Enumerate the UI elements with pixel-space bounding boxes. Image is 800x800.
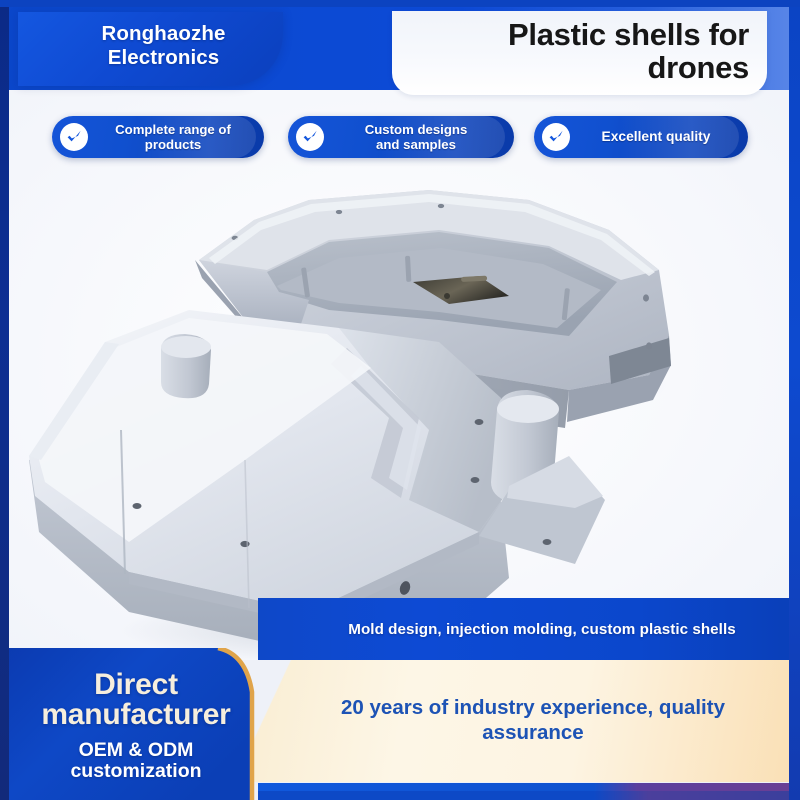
check-circle-icon <box>60 123 88 151</box>
page-title-line1: Plastic shells for <box>508 17 749 52</box>
feature-pill-label: Custom designs and samples <box>324 122 514 153</box>
footer-left-sub-line1: OEM & ODM <box>79 739 194 761</box>
feature-label-line1: Complete range of <box>115 122 231 137</box>
footer-left-headline-line1: Direct <box>94 668 178 701</box>
footer-left-headline: Direct manufacturer <box>41 670 230 731</box>
banner-image: Ronghaozhe Electronics Plastic shells fo… <box>0 0 800 800</box>
check-circle-icon <box>542 123 570 151</box>
product-photo <box>9 160 789 660</box>
border-top <box>0 0 800 7</box>
feature-label-line2: products <box>145 137 201 152</box>
page-title-line2: drones <box>647 50 749 85</box>
feature-pill-list: Complete range of products Custom design… <box>0 116 800 162</box>
footer-cream-text: 20 years of industry experience, quality… <box>240 696 800 745</box>
footer-left-sub-line2: customization <box>70 760 201 782</box>
check-circle-icon <box>296 123 324 151</box>
border-right <box>789 0 800 800</box>
brand-badge: Ronghaozhe Electronics <box>18 12 283 86</box>
feature-label-line1: Excellent quality <box>602 129 711 144</box>
footer-accent-strip-lower <box>258 791 800 800</box>
title-card: Plastic shells for drones <box>392 11 767 95</box>
feature-pill-label: Excellent quality <box>570 129 748 145</box>
brand-name-line2: Electronics <box>108 46 220 69</box>
feature-pill-custom-designs[interactable]: Custom designs and samples <box>288 116 514 158</box>
footer-blue-text: Mold design, injection molding, custom p… <box>322 621 735 638</box>
feature-pill-excellent-quality[interactable]: Excellent quality <box>534 116 748 158</box>
feature-pill-complete-range[interactable]: Complete range of products <box>52 116 264 158</box>
feature-label-line2: and samples <box>376 137 456 152</box>
feature-label-line1: Custom designs <box>365 122 468 137</box>
brand-name: Ronghaozhe Electronics <box>66 22 236 76</box>
page-title: Plastic shells for drones <box>498 19 767 87</box>
footer-left-panel: Direct manufacturer OEM & ODM customizat… <box>0 648 300 800</box>
footer-cream-band: 20 years of industry experience, quality… <box>240 660 800 782</box>
feature-pill-label: Complete range of products <box>88 122 264 153</box>
footer-cream-line2: assurance <box>482 721 583 744</box>
brand-name-line1: Ronghaozhe <box>102 22 226 45</box>
footer-left-text: Direct manufacturer OEM & ODM customizat… <box>0 648 272 800</box>
footer-cream-line1: 20 years of industry experience, quality <box>341 696 725 719</box>
footer-blue-band: Mold design, injection molding, custom p… <box>258 598 800 660</box>
footer-left-subtext: OEM & ODM customization <box>70 740 201 782</box>
footer-left-headline-line2: manufacturer <box>41 698 230 731</box>
border-left <box>0 0 9 800</box>
